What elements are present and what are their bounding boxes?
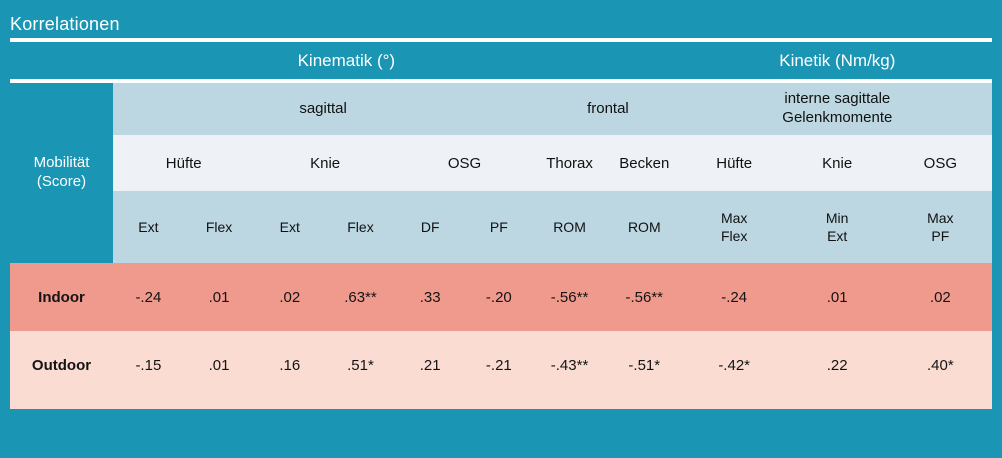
joint-becken: Becken <box>606 135 683 191</box>
measure-knie-minext: Min Ext <box>786 191 889 263</box>
measure-line: PF <box>465 218 534 236</box>
band-row: Kinematik (°) Kinetik (Nm/kg) <box>10 42 992 79</box>
joint-osg-kinetik: OSG <box>889 135 992 191</box>
cell-indoor-knie-minext: .01 <box>786 263 889 331</box>
cell-outdoor-knie-flex: .51* <box>325 331 396 399</box>
group-gelenkmomente-line-1: interne sagittale <box>683 90 992 109</box>
measure-line: Ext <box>254 218 325 236</box>
measure-row: Ext Flex Ext Flex DF PF ROM ROM <box>10 191 992 263</box>
cell-indoor-huefte-ext: -.24 <box>113 263 184 331</box>
cell-outdoor-osg-df: .21 <box>396 331 465 399</box>
measure-thorax-rom: ROM <box>533 191 606 263</box>
measure-becken-rom: ROM <box>606 191 683 263</box>
measure-osg-pf: PF <box>465 191 534 263</box>
joint-huefte-sagittal: Hüfte <box>113 135 254 191</box>
cell-indoor-osg-pf: -.20 <box>465 263 534 331</box>
row-label-indoor: Indoor <box>10 263 113 331</box>
joint-osg-sagittal: OSG <box>396 135 533 191</box>
measure-huefte-flex: Flex <box>184 191 255 263</box>
title-row: Korrelationen <box>10 10 992 38</box>
measure-knie-ext: Ext <box>254 191 325 263</box>
table-title: Korrelationen <box>10 10 992 38</box>
cell-outdoor-huefte-flex: .01 <box>184 331 255 399</box>
group-frontal: frontal <box>533 83 682 135</box>
table-row: Indoor -.24 .01 .02 .63** .33 -.20 -.56*… <box>10 263 992 331</box>
band-kinetik: Kinetik (Nm/kg) <box>683 42 992 79</box>
measure-huefte-maxflex: Max Flex <box>683 191 786 263</box>
measure-line: Flex <box>184 218 255 236</box>
measure-line: ROM <box>606 218 683 236</box>
row-label-outdoor: Outdoor <box>10 331 113 399</box>
group-row: Mobilität (Score) sagittal frontal inter… <box>10 83 992 135</box>
group-sagittal: sagittal <box>113 83 533 135</box>
joint-row: Hüfte Knie OSG Thorax Becken Hüfte Knie … <box>10 135 992 191</box>
group-gelenkmomente-line-2: Gelenkmomente <box>683 109 992 128</box>
measure-line: Ext <box>113 218 184 236</box>
measure-knie-flex: Flex <box>325 191 396 263</box>
cell-indoor-osg-maxpf: .02 <box>889 263 992 331</box>
cell-outdoor-thorax-rom: -.43** <box>533 331 606 399</box>
measure-osg-df: DF <box>396 191 465 263</box>
band-kinematik: Kinematik (°) <box>10 42 683 79</box>
cell-indoor-becken-rom: -.56** <box>606 263 683 331</box>
cell-outdoor-knie-minext: .22 <box>786 331 889 399</box>
stub-header-line-1: Mobilität <box>10 154 113 173</box>
stub-header: Mobilität (Score) <box>10 83 113 263</box>
cell-indoor-knie-flex: .63** <box>325 263 396 331</box>
spacer <box>10 399 992 409</box>
stub-header-line-2: (Score) <box>10 173 113 192</box>
cell-indoor-huefte-maxflex: -.24 <box>683 263 786 331</box>
joint-knie-kinetik: Knie <box>786 135 889 191</box>
measure-line: Flex <box>325 218 396 236</box>
measure-line: Max <box>889 209 992 227</box>
measure-line: DF <box>396 218 465 236</box>
joint-thorax: Thorax <box>533 135 606 191</box>
cell-outdoor-huefte-ext: -.15 <box>113 331 184 399</box>
measure-huefte-ext: Ext <box>113 191 184 263</box>
measure-line: ROM <box>533 218 606 236</box>
cell-indoor-knie-ext: .02 <box>254 263 325 331</box>
cell-outdoor-knie-ext: .16 <box>254 331 325 399</box>
table-row: Outdoor -.15 .01 .16 .51* .21 -.21 -.43*… <box>10 331 992 399</box>
cell-indoor-thorax-rom: -.56** <box>533 263 606 331</box>
cell-outdoor-becken-rom: -.51* <box>606 331 683 399</box>
cell-indoor-osg-df: .33 <box>396 263 465 331</box>
group-gelenkmomente: interne sagittale Gelenkmomente <box>683 83 992 135</box>
correlations-table-container: Korrelationen Kinematik (°) Kinetik (Nm/… <box>10 10 992 448</box>
joint-huefte-kinetik: Hüfte <box>683 135 786 191</box>
cell-indoor-huefte-flex: .01 <box>184 263 255 331</box>
cell-outdoor-osg-maxpf: .40* <box>889 331 992 399</box>
measure-line: Flex <box>683 227 786 245</box>
cell-outdoor-huefte-maxflex: -.42* <box>683 331 786 399</box>
measure-line: Min <box>786 209 889 227</box>
measure-osg-maxpf: Max PF <box>889 191 992 263</box>
bottom-padding-row <box>10 399 992 409</box>
joint-knie-sagittal: Knie <box>254 135 395 191</box>
measure-line: Ext <box>786 227 889 245</box>
correlations-table: Korrelationen Kinematik (°) Kinetik (Nm/… <box>10 10 992 409</box>
measure-line: Max <box>683 209 786 227</box>
measure-line: PF <box>889 227 992 245</box>
cell-outdoor-osg-pf: -.21 <box>465 331 534 399</box>
